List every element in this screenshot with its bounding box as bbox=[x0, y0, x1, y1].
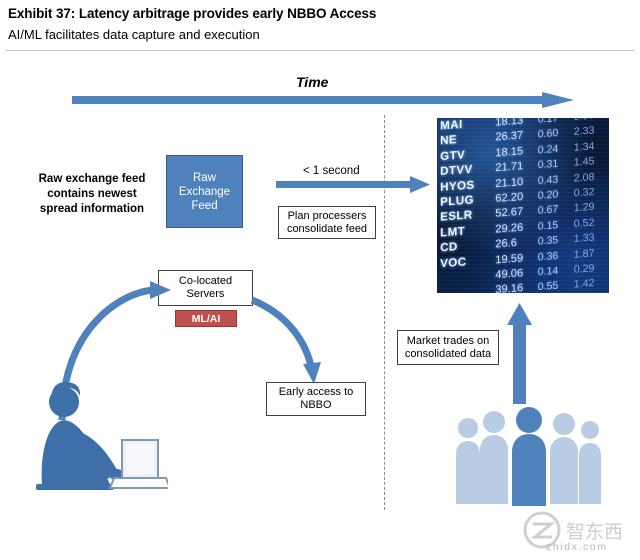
person-at-laptop-icon bbox=[18, 380, 168, 512]
ticker-symbol: LMT bbox=[440, 223, 495, 240]
ticker-symbol bbox=[440, 278, 495, 282]
ticker-symbol: CD bbox=[440, 238, 495, 255]
ticker-change: 0.24 bbox=[538, 142, 574, 156]
ticker-change: 0.60 bbox=[538, 127, 574, 141]
watermark-text: zhidx.com bbox=[546, 541, 608, 553]
ticker-price: 49.06 bbox=[495, 266, 537, 282]
svg-text:智东西: 智东西 bbox=[566, 521, 623, 543]
ticker-price: 18.13 bbox=[495, 118, 537, 129]
laptop-icon bbox=[110, 440, 168, 488]
ticker-change-pct: 2.33 bbox=[574, 124, 609, 138]
arrow-feed-to-processors bbox=[276, 176, 430, 193]
plan-processors-box[interactable]: Plan processers consolidate feed bbox=[278, 206, 376, 239]
ticker-change: 0.14 bbox=[538, 264, 574, 278]
ticker-change-pct: 0.32 bbox=[574, 185, 609, 199]
ticker-symbol: HYOS bbox=[440, 177, 495, 194]
section-divider bbox=[384, 115, 385, 510]
diagram-canvas: Exhibit 37: Latency arbitrage provides e… bbox=[0, 0, 640, 560]
ticker-change-pct: 0.52 bbox=[574, 216, 609, 230]
ticker-change: 0.15 bbox=[538, 218, 574, 232]
ticker-symbol: VOC bbox=[440, 253, 495, 270]
stock-ticker-board: MAI18.130.170.97NE26.370.602.33GTV18.150… bbox=[437, 118, 609, 293]
ticker-price: 19.59 bbox=[495, 250, 537, 266]
ticker-change-pct: 1.33 bbox=[574, 231, 609, 245]
ticker-change-pct: 0.29 bbox=[574, 261, 609, 275]
ml-ai-badge[interactable]: ML/AI bbox=[175, 310, 237, 327]
header-divider bbox=[6, 50, 634, 51]
ticker-price: 29.26 bbox=[495, 220, 537, 236]
ticker-change-pct: 1.45 bbox=[574, 155, 609, 169]
ticker-symbol: DTVV bbox=[440, 162, 495, 179]
ticker-change: 0.43 bbox=[538, 173, 574, 187]
ticker-price: 26.6 bbox=[495, 235, 537, 251]
ticker-change-pct: 2.08 bbox=[574, 170, 609, 184]
ticker-change-pct: 1.42 bbox=[574, 277, 609, 291]
ticker-price: 26.37 bbox=[495, 128, 537, 144]
ticker-price: 39.16 bbox=[495, 281, 537, 293]
latency-label: < 1 second bbox=[303, 165, 360, 177]
ticker-price: 18.15 bbox=[495, 144, 537, 160]
ticker-change: 0.17 bbox=[538, 118, 574, 126]
ticker-change-pct: 1.34 bbox=[574, 139, 609, 153]
ticker-change: 0.35 bbox=[538, 234, 574, 248]
ticker-price: 21.71 bbox=[495, 159, 537, 175]
co-located-servers-box[interactable]: Co-located Servers bbox=[158, 270, 253, 306]
ticker-change-pct: 1.87 bbox=[574, 246, 609, 260]
ticker-change: 0.31 bbox=[538, 157, 574, 171]
raw-exchange-feed-box[interactable]: Raw Exchange Feed bbox=[166, 155, 243, 228]
ticker-change: 0.55 bbox=[538, 279, 574, 293]
raw-feed-note: Raw exchange feed contains newest spread… bbox=[24, 172, 160, 217]
ticker-change: 0.20 bbox=[538, 188, 574, 202]
ticker-symbol: PLUG bbox=[440, 192, 495, 209]
timeline-arrow-icon bbox=[72, 92, 574, 108]
ticker-rows: MAI18.130.170.97NE26.370.602.33GTV18.150… bbox=[437, 118, 609, 293]
ticker-symbol: MAI bbox=[440, 118, 495, 133]
ticker-price: 62.20 bbox=[495, 189, 537, 205]
ticker-price: 21.10 bbox=[495, 174, 537, 190]
ticker-change-pct: 0.97 bbox=[574, 118, 609, 123]
arrow-servers-to-early-access bbox=[252, 300, 321, 384]
crowd-icon bbox=[452, 400, 604, 510]
ticker-symbol: GTV bbox=[440, 147, 495, 164]
market-trades-box[interactable]: Market trades on consolidated data bbox=[397, 330, 499, 365]
arrow-crowd-to-ticker bbox=[507, 303, 532, 404]
ticker-change: 0.67 bbox=[538, 203, 574, 217]
early-access-box[interactable]: Early access to NBBO bbox=[266, 382, 366, 416]
ticker-symbol: NE bbox=[440, 131, 495, 148]
ticker-symbol: ESLR bbox=[440, 208, 495, 225]
ticker-change: 0.36 bbox=[538, 249, 574, 263]
page-subtitle: AI/ML facilitates data capture and execu… bbox=[8, 27, 260, 42]
ticker-change-pct: 1.29 bbox=[574, 200, 609, 214]
page-title: Exhibit 37: Latency arbitrage provides e… bbox=[8, 6, 376, 21]
timeline-label: Time bbox=[296, 74, 328, 90]
ticker-price: 52.67 bbox=[495, 205, 537, 221]
